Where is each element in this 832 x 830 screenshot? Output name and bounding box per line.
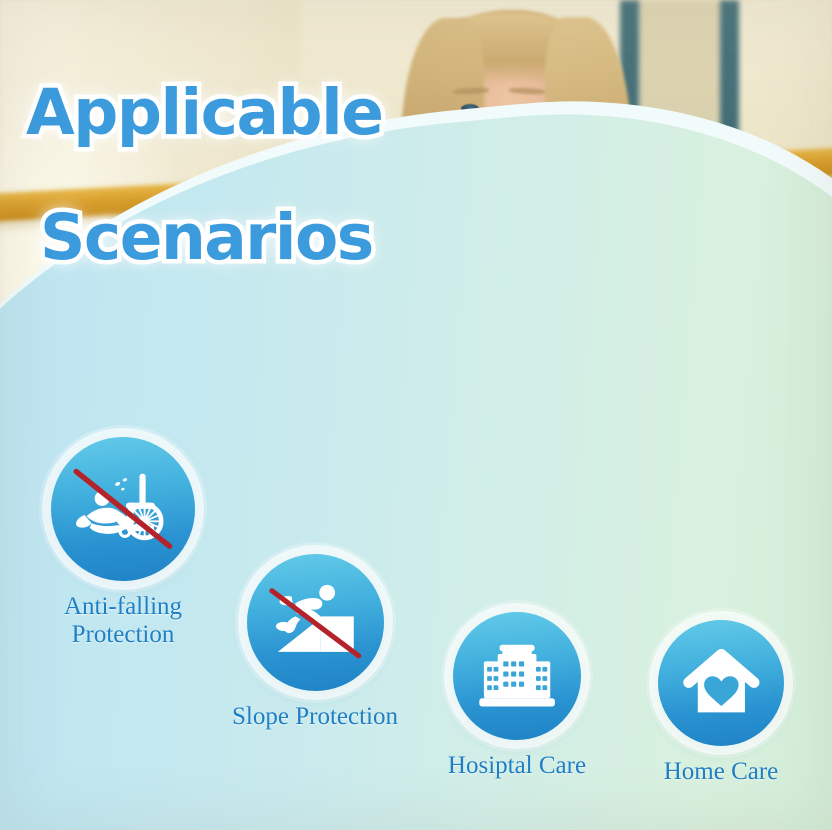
house-heart-icon <box>676 638 767 729</box>
product-scenario-graphic: Applicable Scenarios <box>0 0 832 830</box>
feature-slope-protection[interactable]: Slope Protection <box>205 554 425 731</box>
title-line-2: Scenarios <box>40 207 426 269</box>
feature-hospital-care[interactable]: Hosiptal Care <box>418 612 616 780</box>
feature-label: Hosiptal Care <box>418 752 616 780</box>
hospital-building-icon <box>471 630 563 722</box>
wheelchair-fall-prohibited-icon <box>71 457 175 561</box>
home-icon-circle[interactable] <box>658 620 784 746</box>
title-line-1: Applicable <box>26 82 426 144</box>
feature-home-care[interactable]: Home Care <box>628 620 814 786</box>
feature-label: Anti-falling Protection <box>18 593 228 649</box>
feature-anti-falling[interactable]: Anti-falling Protection <box>18 437 228 649</box>
anti-falling-icon-circle[interactable] <box>51 437 195 581</box>
feature-label: Home Care <box>628 758 814 786</box>
slope-icon-circle[interactable] <box>247 554 384 691</box>
hospital-icon-circle[interactable] <box>453 612 581 740</box>
page-title: Applicable Scenarios <box>26 20 426 332</box>
feature-label: Slope Protection <box>205 703 425 731</box>
slope-slip-prohibited-icon <box>266 573 365 672</box>
